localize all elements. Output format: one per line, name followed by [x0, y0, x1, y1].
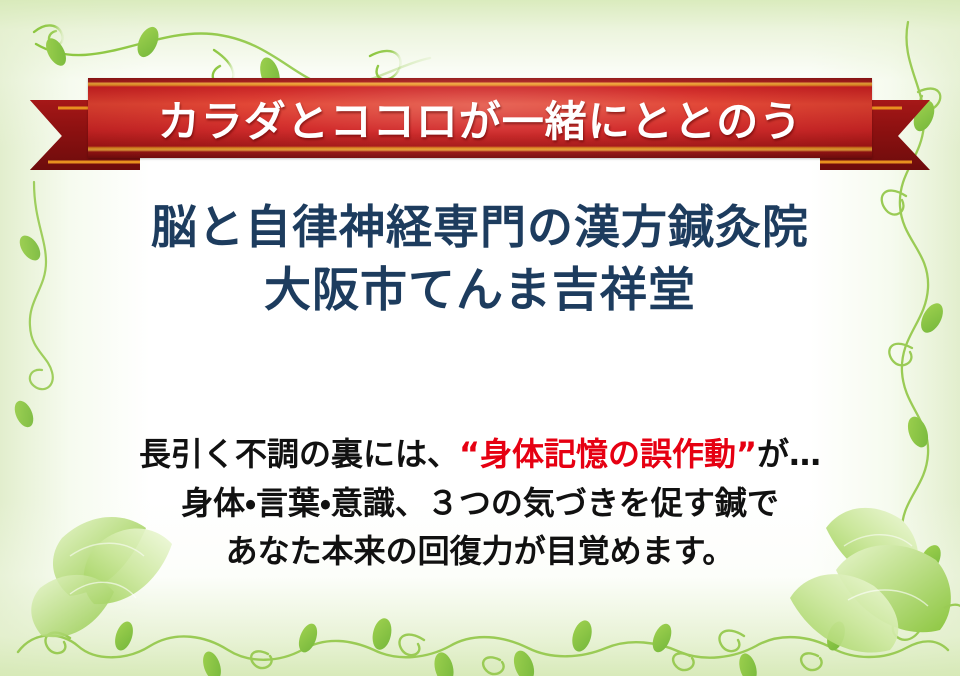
body-line-2: 身体・言葉・意識、３つの気づきを促す鍼で [0, 479, 960, 528]
body-line-3: あなた本来の回復力が目覚めます。 [0, 527, 960, 576]
body-line-1-highlight: “身体記憶の誤作動” [459, 435, 757, 473]
ribbon-tagline: カラダとココロが一緒にととのう [88, 78, 872, 158]
body-copy: 長引く不調の裏には、“身体記憶の誤作動”が… 身体・言葉・意識、３つの気づきを促… [0, 430, 960, 576]
body-line-1: 長引く不調の裏には、“身体記憶の誤作動”が… [0, 430, 960, 479]
headline-line-2: 大阪市てんま吉祥堂 [0, 259, 960, 324]
body-line-1-suffix: が… [757, 435, 821, 473]
page-title: 脳と自律神経専門の漢方鍼灸院 大阪市てんま吉祥堂 [0, 196, 960, 324]
poster-canvas: カラダとココロが一緒にととのう 脳と自律神経専門の漢方鍼灸院 大阪市てんま吉祥堂… [0, 0, 960, 676]
body-line-1-prefix: 長引く不調の裏には、 [139, 435, 459, 473]
ribbon-banner: カラダとココロが一緒にととのう [0, 78, 960, 178]
headline-line-1: 脳と自律神経専門の漢方鍼灸院 [0, 196, 960, 259]
